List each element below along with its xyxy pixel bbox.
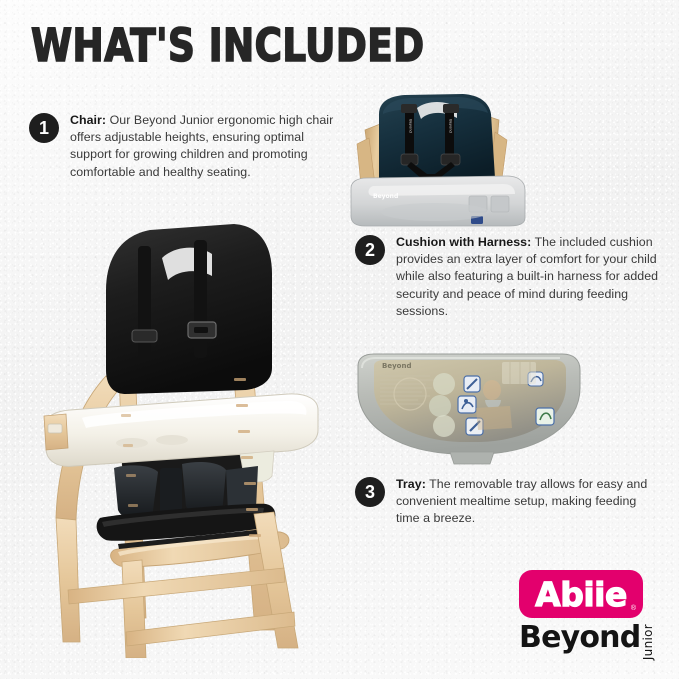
abiie-logo-badge: Abiie ® [519, 570, 643, 618]
list-item-tray: 3 Tray: The removable tray allows for ea… [355, 476, 655, 528]
chair-product-image [22, 218, 342, 658]
registered-trademark-icon: ® [631, 605, 636, 612]
junior-text: Junior [641, 624, 655, 660]
badge-number-2: 2 [355, 235, 385, 265]
item-3-description: The removable tray allows for easy and c… [396, 477, 647, 525]
cushion-product-image: Beyond Beyond Beyond [343, 92, 583, 227]
item-1-term: Chair: [70, 113, 106, 127]
item-1-text: Chair: Our Beyond Junior ergonomic high … [70, 112, 335, 181]
svg-text:Beyond: Beyond [373, 193, 398, 200]
badge-number-1: 1 [29, 113, 59, 143]
list-item-chair: 1 Chair: Our Beyond Junior ergonomic hig… [29, 112, 335, 181]
svg-text:Beyond: Beyond [449, 119, 453, 133]
brand-logo: Abiie ® Beyond Junior [519, 570, 659, 662]
infographic-page: WHAT'S INCLUDED [0, 0, 679, 679]
tray-product-image: Beyond [352, 352, 592, 467]
item-3-text: Tray: The removable tray allows for easy… [396, 476, 655, 528]
svg-text:Beyond: Beyond [382, 362, 411, 370]
item-3-term: Tray: [396, 477, 426, 491]
svg-text:Beyond: Beyond [409, 119, 413, 133]
beyond-junior-wordmark: Beyond Junior [519, 622, 659, 660]
item-1-description: Our Beyond Junior ergonomic high chair o… [70, 113, 333, 179]
item-2-term: Cushion with Harness: [396, 235, 531, 249]
list-item-cushion: 2 Cushion with Harness: The included cus… [355, 234, 665, 320]
abiie-wordmark: Abiie [535, 578, 627, 611]
item-2-text: Cushion with Harness: The included cushi… [396, 234, 665, 320]
badge-number-3: 3 [355, 477, 385, 507]
beyond-text: Beyond [519, 622, 640, 654]
page-title: WHAT'S INCLUDED [31, 23, 425, 69]
